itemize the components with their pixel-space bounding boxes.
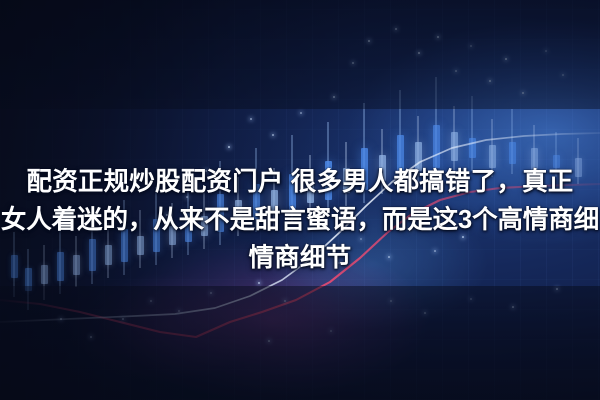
banner-image: 配资正规炒股配资门户 很多男人都搞错了，真正 女人着迷的，从来不是甜言蜜语，而是… (0, 0, 600, 400)
headline-line-3: 情商细节 (0, 239, 600, 277)
headline-text: 配资正规炒股配资门户 很多男人都搞错了，真正 女人着迷的，从来不是甜言蜜语，而是… (0, 163, 600, 277)
headline-line-1: 配资正规炒股配资门户 很多男人都搞错了，真正 (0, 163, 600, 201)
headline-line-2: 女人着迷的，从来不是甜言蜜语，而是这3个高情商细 (0, 201, 600, 239)
